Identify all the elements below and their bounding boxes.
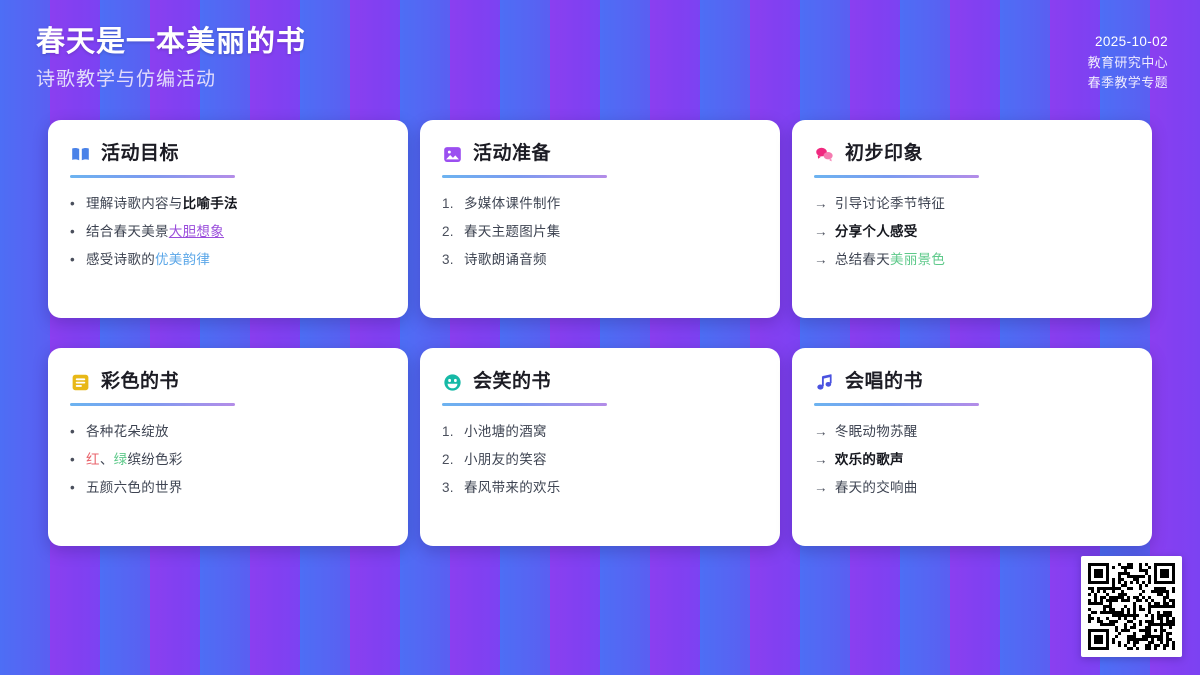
card-title-underline bbox=[70, 175, 235, 178]
list-item: •结合春天美景大胆想象 bbox=[70, 223, 386, 241]
text-segment: 多媒体课件制作 bbox=[464, 196, 561, 211]
list-item-text: 感受诗歌的优美韵律 bbox=[86, 251, 386, 269]
list-item-text: 各种花朵绽放 bbox=[86, 423, 386, 441]
image-icon bbox=[442, 144, 463, 165]
card-title-underline bbox=[442, 175, 607, 178]
list-item-text: 理解诗歌内容与比喻手法 bbox=[86, 195, 386, 213]
list-item: 3.春风带来的欢乐 bbox=[442, 479, 758, 497]
list-item-text: 多媒体课件制作 bbox=[464, 195, 758, 213]
list-card-icon bbox=[70, 372, 91, 393]
text-segment: 诗歌朗诵音频 bbox=[464, 252, 547, 267]
card-header: 会笑的书 bbox=[442, 372, 758, 393]
text-segment: 春天主题图片集 bbox=[464, 224, 561, 239]
card-title: 活动准备 bbox=[473, 144, 551, 165]
qr-code-image bbox=[1088, 563, 1175, 650]
list-marker-arrow: → bbox=[814, 251, 828, 269]
card-list: 1.小池塘的酒窝2.小朋友的笑容3.春风带来的欢乐 bbox=[442, 423, 758, 498]
list-marker-bullet: • bbox=[70, 251, 79, 269]
list-item: →引导讨论季节特征 bbox=[814, 195, 1130, 213]
card-first-impressions[interactable]: 初步印象→引导讨论季节特征→分享个人感受→总结春天美丽景色 bbox=[792, 120, 1152, 318]
card-colorful-book[interactable]: 彩色的书•各种花朵绽放•红、绿缤纷色彩•五颜六色的世界 bbox=[48, 348, 408, 546]
list-marker-bullet: • bbox=[70, 223, 79, 241]
highlight-blue: 优美韵律 bbox=[155, 252, 210, 267]
text-segment: 、 bbox=[100, 452, 114, 467]
list-item-text: 小朋友的笑容 bbox=[464, 451, 758, 469]
list-item: 2.春天主题图片集 bbox=[442, 223, 758, 241]
list-marker-bullet: • bbox=[70, 451, 79, 469]
text-segment: 引导讨论季节特征 bbox=[835, 196, 945, 211]
slide-canvas: 春天是一本美丽的书 诗歌教学与仿编活动 2025-10-02 教育研究中心 春季… bbox=[0, 0, 1200, 675]
header-date: 2025-10-02 bbox=[1088, 32, 1168, 53]
list-item-text: 引导讨论季节特征 bbox=[835, 195, 1130, 213]
card-activity-preparation[interactable]: 活动准备1.多媒体课件制作2.春天主题图片集3.诗歌朗诵音频 bbox=[420, 120, 780, 318]
list-marker-number: 3. bbox=[442, 479, 457, 497]
header-organization: 教育研究中心 bbox=[1088, 53, 1168, 73]
list-item: •理解诗歌内容与比喻手法 bbox=[70, 195, 386, 213]
list-item-text: 诗歌朗诵音频 bbox=[464, 251, 758, 269]
card-title-underline bbox=[70, 403, 235, 406]
highlight-green: 美丽景色 bbox=[890, 252, 945, 267]
text-segment: 春风带来的欢乐 bbox=[464, 480, 561, 495]
text-segment: 小池塘的酒窝 bbox=[464, 424, 547, 439]
card-header: 彩色的书 bbox=[70, 372, 386, 393]
card-header: 活动目标 bbox=[70, 144, 386, 165]
card-header: 活动准备 bbox=[442, 144, 758, 165]
highlight-green: 绿 bbox=[114, 452, 128, 467]
text-segment: 结合春天美景 bbox=[86, 224, 169, 239]
page-subtitle: 诗歌教学与仿编活动 bbox=[36, 69, 306, 92]
list-item-text: 春天的交响曲 bbox=[835, 479, 1130, 497]
list-item: •感受诗歌的优美韵律 bbox=[70, 251, 386, 269]
open-book-icon bbox=[70, 144, 91, 165]
list-item: →欢乐的歌声 bbox=[814, 451, 1130, 469]
list-item: 2.小朋友的笑容 bbox=[442, 451, 758, 469]
card-smiling-book[interactable]: 会笑的书1.小池塘的酒窝2.小朋友的笑容3.春风带来的欢乐 bbox=[420, 348, 780, 546]
card-activity-goals[interactable]: 活动目标•理解诗歌内容与比喻手法•结合春天美景大胆想象•感受诗歌的优美韵律 bbox=[48, 120, 408, 318]
page-title: 春天是一本美丽的书 bbox=[36, 24, 306, 60]
list-marker-number: 2. bbox=[442, 451, 457, 469]
list-item-text: 春天主题图片集 bbox=[464, 223, 758, 241]
card-title-underline bbox=[442, 403, 607, 406]
list-marker-bullet: • bbox=[70, 423, 79, 441]
list-item-text: 分享个人感受 bbox=[835, 223, 1130, 241]
list-item-text: 冬眠动物苏醒 bbox=[835, 423, 1130, 441]
qr-code[interactable] bbox=[1081, 556, 1182, 657]
smiley-face-icon bbox=[442, 372, 463, 393]
list-item-text: 春风带来的欢乐 bbox=[464, 479, 758, 497]
card-header: 初步印象 bbox=[814, 144, 1130, 165]
card-grid: 活动目标•理解诗歌内容与比喻手法•结合春天美景大胆想象•感受诗歌的优美韵律活动准… bbox=[48, 120, 1152, 546]
list-marker-arrow: → bbox=[814, 423, 828, 441]
list-marker-number: 3. bbox=[442, 251, 457, 269]
list-marker-number: 2. bbox=[442, 223, 457, 241]
list-marker-number: 1. bbox=[442, 423, 457, 441]
list-item: →春天的交响曲 bbox=[814, 479, 1130, 497]
list-item: 3.诗歌朗诵音频 bbox=[442, 251, 758, 269]
list-item: 1.小池塘的酒窝 bbox=[442, 423, 758, 441]
list-item: →分享个人感受 bbox=[814, 223, 1130, 241]
list-marker-arrow: → bbox=[814, 195, 828, 213]
header-topic: 春季教学专题 bbox=[1088, 73, 1168, 93]
card-title-underline bbox=[814, 175, 979, 178]
list-marker-arrow: → bbox=[814, 479, 828, 497]
text-segment: 总结春天 bbox=[835, 252, 890, 267]
highlight-bold: 欢乐的歌声 bbox=[835, 452, 904, 467]
card-title: 活动目标 bbox=[101, 144, 179, 165]
card-list: •各种花朵绽放•红、绿缤纷色彩•五颜六色的世界 bbox=[70, 423, 386, 498]
card-singing-book[interactable]: 会唱的书→冬眠动物苏醒→欢乐的歌声→春天的交响曲 bbox=[792, 348, 1152, 546]
list-item: →总结春天美丽景色 bbox=[814, 251, 1130, 269]
highlight-red: 红 bbox=[86, 452, 100, 467]
list-item-text: 总结春天美丽景色 bbox=[835, 251, 1130, 269]
list-marker-bullet: • bbox=[70, 479, 79, 497]
text-segment: 五颜六色的世界 bbox=[86, 480, 183, 495]
list-item: 1.多媒体课件制作 bbox=[442, 195, 758, 213]
list-item: •红、绿缤纷色彩 bbox=[70, 451, 386, 469]
list-item: →冬眠动物苏醒 bbox=[814, 423, 1130, 441]
highlight-bold: 比喻手法 bbox=[183, 196, 238, 211]
card-header: 会唱的书 bbox=[814, 372, 1130, 393]
card-title: 彩色的书 bbox=[101, 372, 179, 393]
list-marker-number: 1. bbox=[442, 195, 457, 213]
card-list: →冬眠动物苏醒→欢乐的歌声→春天的交响曲 bbox=[814, 423, 1130, 498]
list-item-text: 结合春天美景大胆想象 bbox=[86, 223, 386, 241]
card-title: 初步印象 bbox=[845, 144, 923, 165]
card-list: 1.多媒体课件制作2.春天主题图片集3.诗歌朗诵音频 bbox=[442, 195, 758, 270]
list-marker-arrow: → bbox=[814, 451, 828, 469]
list-marker-bullet: • bbox=[70, 195, 79, 213]
text-segment: 理解诗歌内容与 bbox=[86, 196, 183, 211]
card-title-underline bbox=[814, 403, 979, 406]
text-segment: 小朋友的笑容 bbox=[464, 452, 547, 467]
highlight-purple: 大胆想象 bbox=[169, 224, 224, 239]
text-segment: 缤纷色彩 bbox=[127, 452, 182, 467]
highlight-bold: 分享个人感受 bbox=[835, 224, 918, 239]
text-segment: 春天的交响曲 bbox=[835, 480, 918, 495]
text-segment: 感受诗歌的 bbox=[86, 252, 155, 267]
card-title: 会唱的书 bbox=[845, 372, 923, 393]
list-item-text: 五颜六色的世界 bbox=[86, 479, 386, 497]
card-title: 会笑的书 bbox=[473, 372, 551, 393]
list-item-text: 小池塘的酒窝 bbox=[464, 423, 758, 441]
card-list: →引导讨论季节特征→分享个人感受→总结春天美丽景色 bbox=[814, 195, 1130, 270]
music-note-icon bbox=[814, 372, 835, 393]
header-meta-block: 2025-10-02 教育研究中心 春季教学专题 bbox=[1088, 32, 1168, 93]
chat-bubbles-icon bbox=[814, 144, 835, 165]
list-item: •各种花朵绽放 bbox=[70, 423, 386, 441]
header-title-block: 春天是一本美丽的书 诗歌教学与仿编活动 bbox=[36, 24, 306, 92]
text-segment: 冬眠动物苏醒 bbox=[835, 424, 918, 439]
card-list: •理解诗歌内容与比喻手法•结合春天美景大胆想象•感受诗歌的优美韵律 bbox=[70, 195, 386, 270]
list-item: •五颜六色的世界 bbox=[70, 479, 386, 497]
list-item-text: 欢乐的歌声 bbox=[835, 451, 1130, 469]
slide-header: 春天是一本美丽的书 诗歌教学与仿编活动 2025-10-02 教育研究中心 春季… bbox=[0, 0, 1200, 118]
list-item-text: 红、绿缤纷色彩 bbox=[86, 451, 386, 469]
list-marker-arrow: → bbox=[814, 223, 828, 241]
text-segment: 各种花朵绽放 bbox=[86, 424, 169, 439]
